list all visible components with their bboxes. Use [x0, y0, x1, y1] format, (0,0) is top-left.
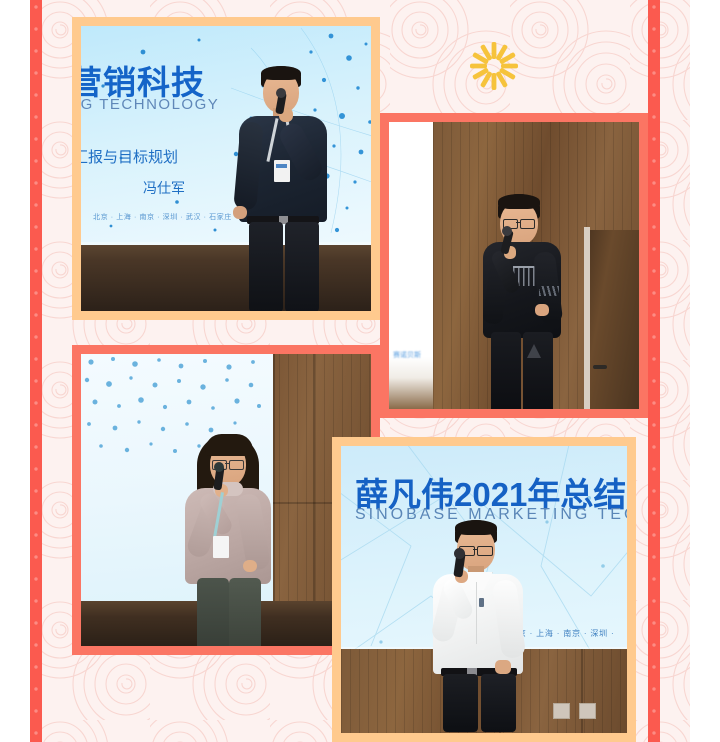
photo-1-image: 营销科技 IG TECHNOLOGY 汇报与目标规划 冯仕军 北京 · 上海 ·…	[81, 26, 371, 311]
rail-dot-texture	[30, 0, 42, 742]
photo-2-screen-logo: 赛诺贝斯	[393, 350, 421, 360]
photo-2-speaker	[473, 194, 583, 409]
wall-outlet-right	[579, 703, 596, 719]
photo-2-image: 赛诺贝斯	[389, 122, 639, 409]
collage-page: 赛诺贝斯	[0, 0, 720, 742]
left-red-rail	[30, 0, 42, 742]
photo-4-image: 薛凡伟2021年总结 SINOBASE MARKETING TECHNOLO 北…	[341, 446, 627, 733]
photo-4-speaker	[425, 520, 545, 732]
sparkle-burst-icon	[468, 40, 520, 92]
rail-dot-texture	[648, 0, 660, 742]
photo-speaker-feng-shijun[interactable]: 营销科技 IG TECHNOLOGY 汇报与目标规划 冯仕军 北京 · 上海 ·…	[72, 17, 380, 320]
right-red-rail	[648, 0, 660, 742]
photo-1-slide-speaker: 冯仕军	[143, 178, 185, 198]
photo-1-speaker	[231, 66, 351, 311]
photo-1-slide-subtitle: 汇报与目标规划	[81, 146, 178, 167]
photo-3-image	[81, 354, 371, 646]
wall-outlet-left	[553, 703, 570, 719]
photo-speaker-black-sweatshirt[interactable]: 赛诺贝斯	[380, 113, 648, 418]
photo-3-speaker	[179, 432, 279, 646]
photo-1-slide-title-en: IG TECHNOLOGY	[81, 96, 219, 113]
photo-speaker-xue-fanwei[interactable]: 薛凡伟2021年总结 SINOBASE MARKETING TECHNOLO 北…	[332, 437, 636, 742]
